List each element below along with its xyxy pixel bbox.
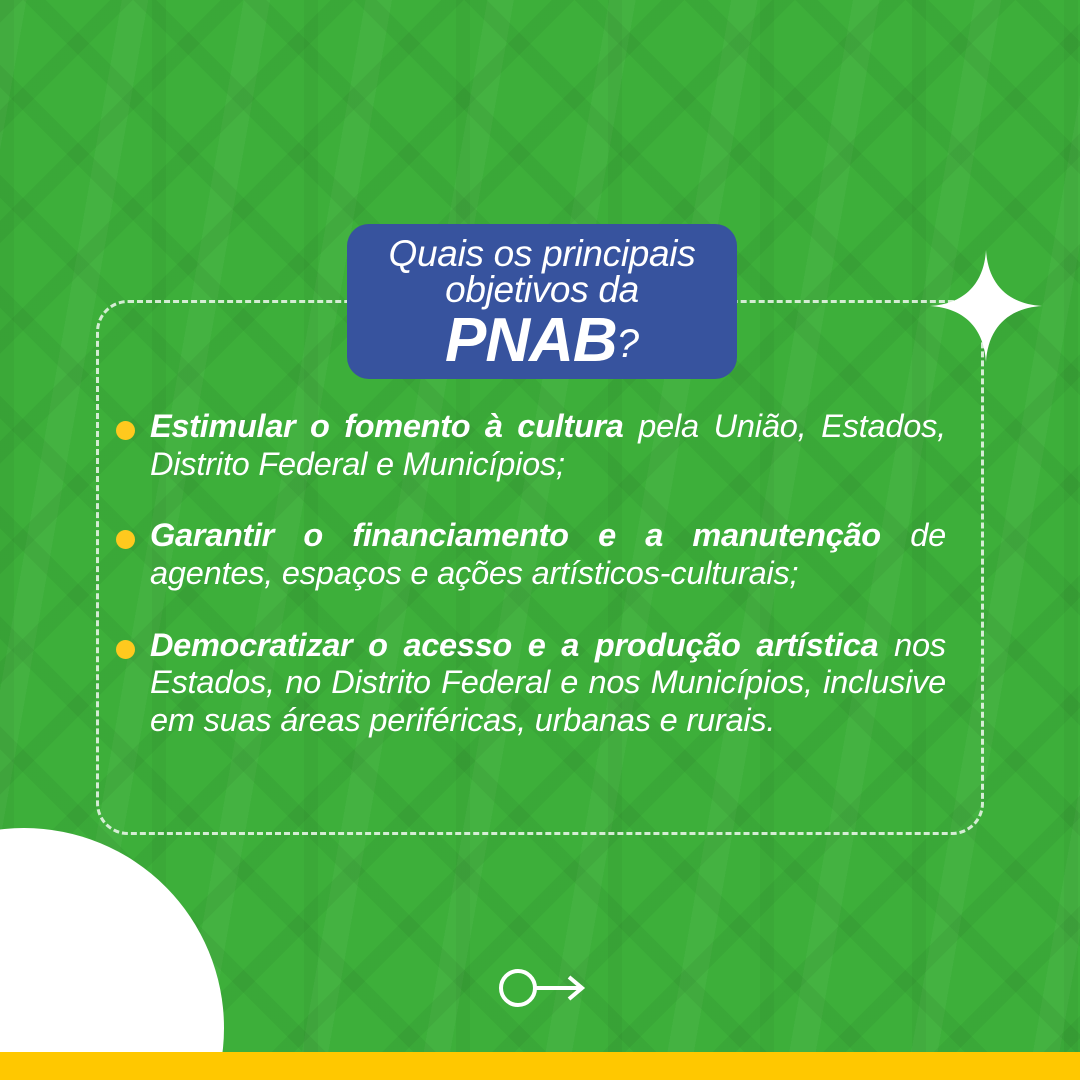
question-mark: ? <box>617 322 639 366</box>
decorative-white-strip <box>0 1016 208 1052</box>
dot-icon <box>116 640 135 659</box>
list-item: Garantir o financiamento e a manutenção … <box>114 517 946 592</box>
list-item-lead: Democratizar o acesso e a produção artís… <box>150 627 878 663</box>
list-item-text: Estimular o fomento à cultura pela União… <box>150 408 946 483</box>
list-item-lead: Garantir o financiamento e a manutenção <box>150 517 881 553</box>
circle-arrow-right-icon[interactable] <box>497 963 589 1013</box>
bottom-accent-bar <box>0 1052 1080 1080</box>
dot-icon <box>116 530 135 549</box>
list-item-lead: Estimular o fomento à cultura <box>150 408 624 444</box>
objectives-list: Estimular o fomento à cultura pela União… <box>114 408 946 740</box>
title-line-1: Quais os principais <box>389 236 696 272</box>
title-badge: Quais os principais objetivos da PNAB? <box>347 224 737 379</box>
list-item-text: Garantir o financiamento e a manutenção … <box>150 517 946 592</box>
dot-icon <box>116 421 135 440</box>
acronym-pnab: PNAB <box>445 306 617 375</box>
list-item-text: Democratizar o acesso e a produção artís… <box>150 627 946 740</box>
list-item: Estimular o fomento à cultura pela União… <box>114 408 946 483</box>
title-line-2: objetivos da <box>445 272 639 308</box>
four-point-star-icon <box>930 250 1042 362</box>
title-acronym-line: PNAB? <box>445 310 639 372</box>
list-item: Democratizar o acesso e a produção artís… <box>114 627 946 740</box>
social-card: Quais os principais objetivos da PNAB? E… <box>0 0 1080 1080</box>
